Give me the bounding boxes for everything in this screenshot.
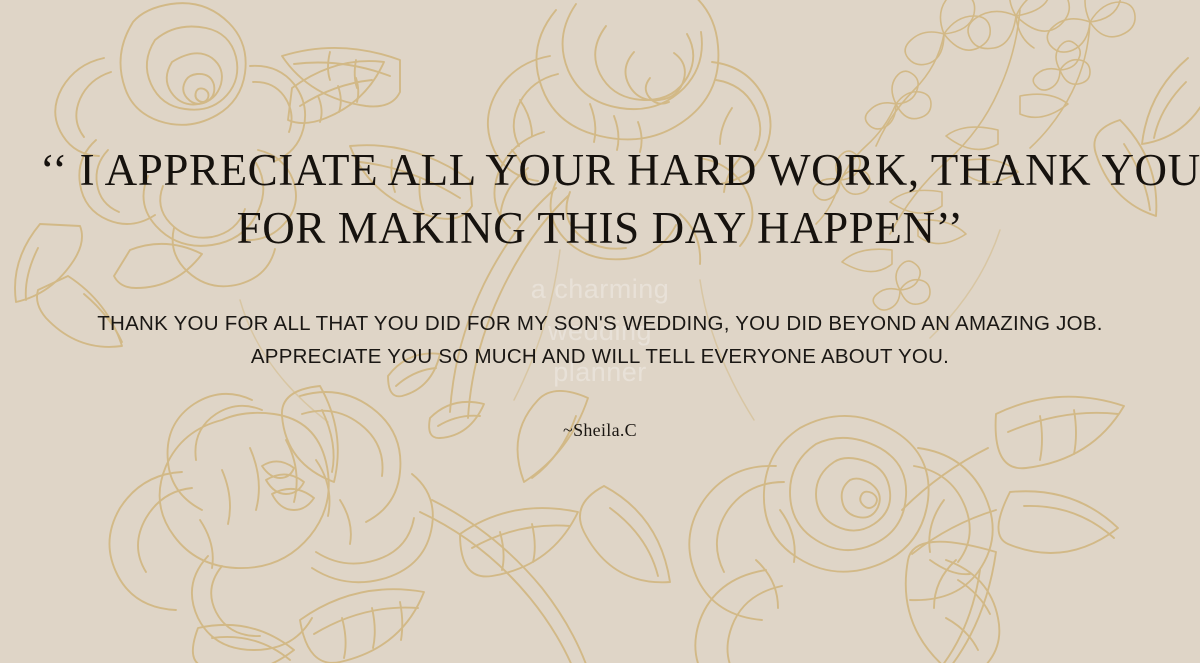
signature: ~Sheila.C (563, 420, 637, 441)
testimonial-card: a charming wedding planner ‘‘ I APPRECIA… (0, 0, 1200, 663)
testimonial-line-1: THANK YOU FOR ALL THAT YOU DID FOR MY SO… (50, 308, 1150, 340)
quote-text: ‘‘ I APPRECIATE ALL YOUR HARD WORK, THAN… (40, 142, 1160, 257)
testimonial-line-2: APPRECIATE YOU SO MUCH AND WILL TELL EVE… (50, 341, 1150, 373)
quote-line-1: ‘‘ I APPRECIATE ALL YOUR HARD WORK, THAN… (40, 142, 1160, 200)
testimonial-body: THANK YOU FOR ALL THAT YOU DID FOR MY SO… (50, 308, 1150, 373)
testimonial-content: ‘‘ I APPRECIATE ALL YOUR HARD WORK, THAN… (0, 0, 1200, 663)
quote-line-2: FOR MAKING THIS DAY HAPPEN’’ (40, 200, 1160, 258)
